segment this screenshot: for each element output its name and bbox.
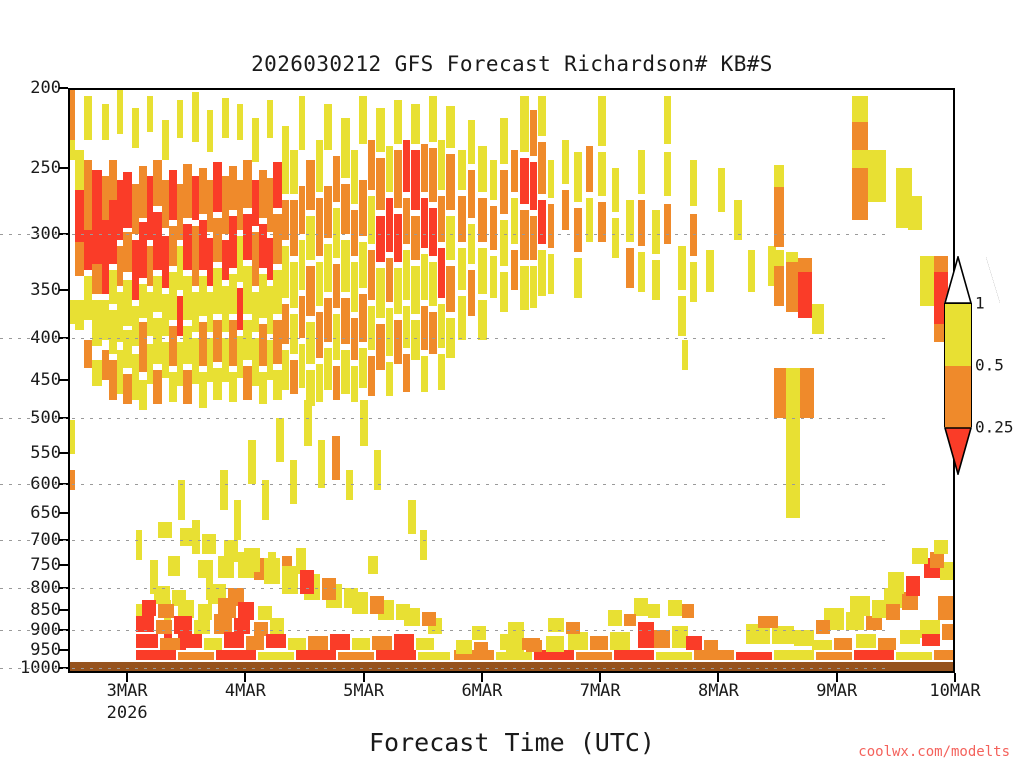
heatmap-cell: [68, 88, 75, 140]
heatmap-cell: [68, 140, 75, 160]
heatmap-cell: [638, 622, 654, 648]
heatmap-cell: [774, 368, 786, 418]
heatmap-cell: [376, 158, 385, 210]
heatmap-cell: [438, 304, 445, 348]
heatmap-cell: [446, 266, 455, 312]
heatmap-cell: [586, 146, 593, 192]
heatmap-cell: [682, 604, 694, 618]
heatmap-cell: [394, 150, 402, 208]
heatmap-cell: [694, 650, 734, 660]
y-axis-tick-label: 950: [30, 640, 61, 660]
heatmap-cell: [468, 170, 475, 218]
gridline: [0, 234, 887, 235]
heatmap-cell: [490, 160, 497, 200]
heatmap-cell: [878, 638, 896, 650]
heatmap-cell: [192, 92, 199, 142]
heatmap-cell: [234, 500, 241, 540]
heatmap-cell: [530, 216, 537, 260]
x-axis-tick-mark: [599, 673, 601, 682]
heatmap-cell: [678, 246, 686, 290]
heatmap-cell: [290, 460, 297, 504]
y-axis-tick-label: 750: [30, 555, 61, 575]
colorbar-segment-yellow: [945, 304, 971, 366]
heatmap-cell: [446, 216, 455, 260]
heatmap-cell: [664, 96, 671, 144]
heatmap-cell: [774, 266, 784, 306]
heatmap-cell: [421, 198, 428, 248]
heatmap-cell: [192, 292, 199, 332]
heatmap-cell: [368, 196, 375, 244]
heatmap-cell: [368, 250, 375, 300]
y-axis-tick-mark: [59, 452, 68, 454]
heatmap-cell: [420, 530, 427, 560]
heatmap-cell: [204, 638, 222, 650]
heatmap-cell: [429, 148, 437, 202]
y-axis-tick-mark: [59, 609, 68, 611]
y-axis-tick-label: 450: [30, 370, 61, 390]
heatmap-cell: [654, 630, 670, 648]
x-axis-tick-label: 3MAR: [107, 681, 148, 701]
heatmap-cell: [299, 296, 305, 338]
heatmap-cell: [153, 318, 162, 364]
heatmap-cell: [194, 620, 210, 634]
heatmap-cell: [222, 286, 229, 332]
y-axis-tick-label: 550: [30, 443, 61, 463]
heatmap-cell: [198, 560, 212, 578]
heatmap-cell: [351, 150, 358, 204]
heatmap-cell: [207, 110, 213, 152]
heatmap-cell: [704, 640, 718, 650]
heatmap-cell: [386, 146, 393, 192]
heatmap-cell: [856, 634, 876, 648]
heatmap-cell: [403, 250, 410, 300]
heatmap-cell: [421, 254, 428, 300]
heatmap-cell: [530, 110, 537, 156]
heatmap-cell: [574, 208, 582, 252]
heatmap-cell: [324, 244, 332, 292]
heatmap-cell: [920, 256, 934, 306]
heatmap-cell: [416, 638, 434, 650]
heatmap-cell: [686, 636, 702, 650]
heatmap-cell: [84, 96, 92, 140]
gridline: [0, 418, 887, 419]
heatmap-cell: [102, 300, 109, 340]
heatmap-cell: [92, 264, 102, 294]
heatmap-cell: [394, 268, 402, 314]
heatmap-cell: [341, 184, 350, 234]
heatmap-cell: [376, 268, 385, 318]
heatmap-cell: [774, 650, 814, 660]
colorbar[interactable]: [944, 303, 972, 427]
heatmap-cell: [690, 262, 697, 302]
heatmap-cell: [216, 650, 256, 660]
heatmap-cell: [324, 298, 332, 342]
heatmap-cell: [678, 296, 686, 336]
heatmap-cell: [638, 150, 645, 194]
heatmap-cell: [306, 216, 315, 260]
heatmap-cell: [800, 368, 814, 418]
heatmap-cell: [908, 196, 922, 230]
heatmap-cell: [299, 344, 305, 388]
heatmap-cell: [538, 250, 546, 296]
heatmap-cell: [411, 104, 420, 144]
heatmap-cell: [562, 140, 569, 184]
heatmap-cell: [478, 300, 487, 340]
x-axis-tick-label: 8MAR: [698, 681, 739, 701]
heatmap-cell: [123, 330, 132, 368]
x-axis-tick-label: 7MAR: [580, 681, 621, 701]
heatmap-cell: [574, 152, 582, 202]
heatmap-cell: [132, 306, 139, 346]
heatmap-cell: [177, 100, 183, 138]
gridline: [0, 484, 887, 485]
heatmap-cell: [92, 360, 102, 386]
heatmap-cell: [259, 372, 267, 404]
heatmap-cell: [530, 162, 537, 210]
heatmap-cell: [418, 652, 450, 660]
heatmap-cell: [102, 220, 109, 294]
heatmap-cell: [394, 634, 414, 650]
heatmap-cell: [490, 256, 497, 298]
heatmap-cell: [229, 372, 237, 402]
heatmap-cell: [682, 340, 688, 370]
heatmap-cell: [478, 146, 487, 192]
heatmap-cell: [288, 638, 306, 650]
heatmap-cell: [690, 160, 697, 206]
heatmap-cell: [474, 642, 488, 654]
heatmap-cell: [429, 208, 437, 256]
heatmap-cell: [511, 198, 518, 244]
heatmap-cell: [341, 118, 350, 178]
heatmap-cell: [376, 216, 385, 262]
heatmap-cell: [324, 348, 332, 390]
heatmap-cell: [590, 636, 608, 650]
heatmap-cell: [359, 348, 367, 388]
heatmap-cell: [458, 296, 466, 340]
heatmap-cell: [178, 652, 214, 660]
heatmap-cell: [798, 272, 812, 318]
y-axis-tick-mark: [59, 289, 68, 291]
colorbar-tick-label: 0.25: [975, 418, 1014, 437]
gridline: [0, 668, 887, 669]
colorbar-segment-orange: [945, 366, 971, 428]
heatmap-cell: [252, 180, 259, 226]
heatmap-cell: [259, 324, 267, 366]
heatmap-cell: [213, 162, 222, 212]
heatmap-cell: [930, 552, 944, 568]
gridline: [0, 630, 887, 631]
heatmap-cell: [229, 320, 237, 366]
heatmap-cell: [252, 292, 259, 332]
heatmap-cell: [142, 600, 156, 616]
heatmap-cell: [648, 604, 660, 618]
x-axis-tick-mark: [363, 673, 365, 682]
heatmap-cell: [394, 320, 402, 364]
heatmap-cell: [199, 220, 207, 270]
heatmap-cell: [774, 250, 784, 266]
heatmap-cell: [243, 160, 252, 208]
heatmap-cell: [816, 652, 852, 660]
heatmap-cell: [538, 96, 546, 136]
gridline: [0, 540, 887, 541]
heatmap-cell: [408, 500, 416, 534]
heatmap-cell: [906, 576, 920, 596]
heatmap-cell: [598, 202, 606, 242]
heatmap-cell: [351, 318, 358, 360]
heatmap-cell: [162, 342, 169, 378]
heatmap-cell: [153, 160, 162, 206]
heatmap-cell: [139, 222, 147, 278]
heatmap-cell: [612, 218, 619, 258]
heatmap-cell: [192, 338, 199, 384]
heatmap-cell: [900, 630, 920, 644]
heatmap-cell: [652, 260, 660, 300]
heatmap-cell: [169, 170, 177, 220]
heatmap-cell: [664, 152, 671, 196]
heatmap-cell: [468, 270, 475, 316]
heatmap-cell: [394, 100, 402, 144]
heatmap-cell: [468, 224, 475, 264]
heatmap-cell: [169, 272, 177, 320]
heatmap-cell: [84, 340, 92, 368]
heatmap-cell: [252, 232, 259, 286]
heatmap-cell: [182, 634, 202, 648]
heatmap-cell: [368, 356, 375, 396]
heatmap-cell: [168, 556, 180, 576]
heatmap-cell: [75, 300, 84, 330]
heatmap-cell: [220, 470, 228, 510]
heatmap-cell: [500, 220, 508, 266]
heatmap-cell: [306, 322, 315, 364]
heatmap-cell: [290, 200, 298, 256]
heatmap-cell: [458, 150, 466, 190]
heatmap-cell: [300, 570, 314, 594]
heatmap-cell: [258, 652, 294, 660]
heatmap-cell: [718, 168, 725, 212]
x-axis-tick-mark: [126, 673, 128, 682]
heatmap-cell: [252, 118, 259, 162]
heatmap-cell: [538, 142, 546, 194]
heatmap-cell: [520, 266, 529, 310]
heatmap-cell: [530, 266, 537, 308]
heatmap-cell: [109, 360, 117, 400]
heatmap-cell: [147, 96, 153, 132]
heatmap-cell: [156, 620, 172, 634]
y-axis-tick-mark: [59, 649, 68, 651]
heatmap-cell: [351, 366, 358, 402]
heatmap-cell: [736, 652, 772, 660]
heatmap-cell: [568, 632, 588, 650]
heatmap-cell: [213, 218, 222, 262]
heatmap-cell: [812, 640, 832, 650]
heatmap-cell: [162, 180, 169, 228]
y-axis-tick-mark: [59, 512, 68, 514]
gridline: [0, 588, 887, 589]
heatmap-cell: [511, 150, 518, 192]
heatmap-cell: [429, 262, 437, 306]
heatmap-cell: [446, 106, 455, 148]
heatmap-cell: [520, 96, 529, 152]
heatmap-cell: [202, 534, 216, 554]
heatmap-cell: [372, 636, 392, 650]
heatmap-cell: [562, 190, 569, 230]
heatmap-cell: [376, 108, 385, 152]
watermark: coolwx.com/modelts: [858, 744, 1010, 760]
chart-root: 2026030212 GFS Forecast Richardson# KB#S…: [0, 0, 1024, 768]
heatmap-cell: [411, 216, 420, 260]
heatmap-cell: [333, 156, 340, 202]
heatmap-cell: [213, 268, 222, 314]
heatmap-cell: [259, 274, 267, 318]
heatmap-cell: [259, 224, 267, 268]
heatmap-cell: [496, 652, 532, 660]
heatmap-cell: [774, 187, 784, 247]
heatmap-cell: [490, 206, 497, 250]
heatmap-cell: [546, 636, 564, 652]
heatmap-cell: [132, 108, 139, 148]
heatmap-cell: [213, 320, 222, 362]
heatmap-cell: [394, 214, 402, 262]
heatmap-cell: [852, 168, 868, 220]
heatmap-cell: [598, 96, 606, 146]
heatmap-cell: [341, 350, 350, 394]
heatmap-cell: [359, 180, 367, 236]
heatmap-cell: [244, 548, 260, 572]
x-axis-year-label: 2026: [107, 703, 148, 723]
x-axis-tick-mark: [836, 673, 838, 682]
heatmap-cell: [68, 300, 75, 324]
heatmap-cell: [136, 650, 176, 660]
heatmap-cell: [664, 204, 671, 244]
heatmap-cell: [598, 152, 606, 196]
heatmap-cell: [178, 480, 185, 520]
heatmap-cell: [282, 246, 289, 298]
heatmap-cell: [102, 104, 109, 140]
chart-title: 2026030212 GFS Forecast Richardson# KB#S: [0, 52, 1024, 76]
heatmap-cell: [199, 372, 207, 408]
heatmap-cell: [458, 248, 466, 290]
heatmap-cell: [229, 274, 237, 314]
heatmap-cell: [84, 160, 92, 230]
heatmap-cell: [368, 556, 378, 574]
heatmap-cell: [132, 354, 139, 400]
heatmap-cell: [316, 262, 323, 306]
x-axis-tick-mark: [717, 673, 719, 682]
heatmap-cell: [243, 214, 252, 260]
heatmap-cell: [243, 320, 252, 360]
heatmap-cell: [109, 270, 117, 304]
heatmap-cell: [246, 636, 264, 650]
heatmap-cell: [308, 636, 328, 650]
heatmap-cell: [624, 614, 636, 626]
heatmap-cell: [344, 588, 358, 608]
heatmap-cell: [109, 200, 117, 264]
heatmap-cell: [153, 276, 162, 312]
plot-area[interactable]: [68, 88, 955, 673]
x-axis-tick-label: 10MAR: [929, 681, 980, 701]
y-axis-tick-label: 250: [30, 158, 61, 178]
y-axis-tick-mark: [59, 564, 68, 566]
heatmap-cell: [162, 236, 169, 288]
heatmap-cell: [183, 276, 192, 320]
x-axis-tick-label: 6MAR: [461, 681, 502, 701]
y-axis-tick-mark: [59, 87, 68, 89]
heatmap-cell: [123, 232, 132, 272]
heatmap-cell: [75, 242, 84, 276]
heatmap-cell: [500, 118, 508, 164]
heatmap-cell: [341, 240, 350, 292]
heatmap-cell: [368, 140, 375, 190]
heatmap-cell: [102, 350, 109, 380]
heatmap-cell: [359, 294, 367, 342]
heatmap-cell: [626, 248, 634, 288]
heatmap-cell: [500, 272, 508, 312]
heatmap-cell: [237, 104, 243, 140]
x-axis-tick-label: 5MAR: [343, 681, 384, 701]
heatmap-cell: [411, 150, 420, 210]
heatmap-cell: [376, 324, 385, 370]
heatmap-cell: [132, 184, 139, 234]
heatmap-cell: [868, 150, 886, 202]
y-axis-tick-label: 850: [30, 600, 61, 620]
heatmap-cell: [324, 104, 332, 150]
heatmap-cell: [332, 436, 340, 480]
heatmap-cell: [252, 338, 259, 386]
heatmap-cell: [500, 170, 508, 214]
heatmap-cell: [429, 96, 437, 142]
heatmap-cell: [834, 638, 852, 650]
x-axis-tick-mark: [954, 673, 956, 682]
heatmap-cell: [136, 634, 158, 648]
heatmap-cell: [183, 370, 192, 404]
heatmap-cell: [438, 248, 445, 298]
heatmap-cell: [270, 618, 284, 634]
heatmap-cell: [198, 604, 212, 620]
heatmap-cell: [938, 596, 955, 620]
heatmap-cell: [229, 216, 237, 268]
heatmap-cell: [68, 470, 75, 490]
heatmap-cell: [421, 356, 428, 392]
heatmap-cell: [304, 400, 312, 446]
heatmap-cell: [273, 270, 282, 314]
heatmap-cell: [706, 250, 714, 292]
heatmap-cell: [162, 120, 169, 160]
heatmap-cell: [273, 214, 282, 264]
heatmap-cell: [68, 420, 75, 454]
heatmap-cell: [199, 276, 207, 316]
heatmap-cell: [264, 558, 280, 584]
heatmap-cell: [511, 250, 518, 290]
heatmap-cell: [472, 626, 486, 640]
heatmap-cell: [330, 634, 350, 650]
heatmap-cell: [360, 400, 368, 446]
heatmap-cell: [123, 280, 132, 326]
heatmap-cell: [318, 440, 325, 488]
heatmap-cell: [538, 200, 546, 244]
heatmap-cell: [158, 604, 174, 618]
heatmap-cell: [169, 372, 177, 402]
heatmap-cell: [446, 154, 455, 210]
colorbar-tick-label: 1: [975, 294, 985, 313]
heatmap-cell: [668, 600, 682, 616]
heatmap-cell: [852, 96, 868, 122]
heatmap-cell: [139, 284, 147, 318]
heatmap-cell: [117, 90, 123, 134]
colorbar-over-outline: [944, 256, 972, 304]
heatmap-cell: [282, 126, 289, 194]
heatmap-cell: [222, 98, 229, 138]
heatmap-cell: [411, 266, 420, 314]
